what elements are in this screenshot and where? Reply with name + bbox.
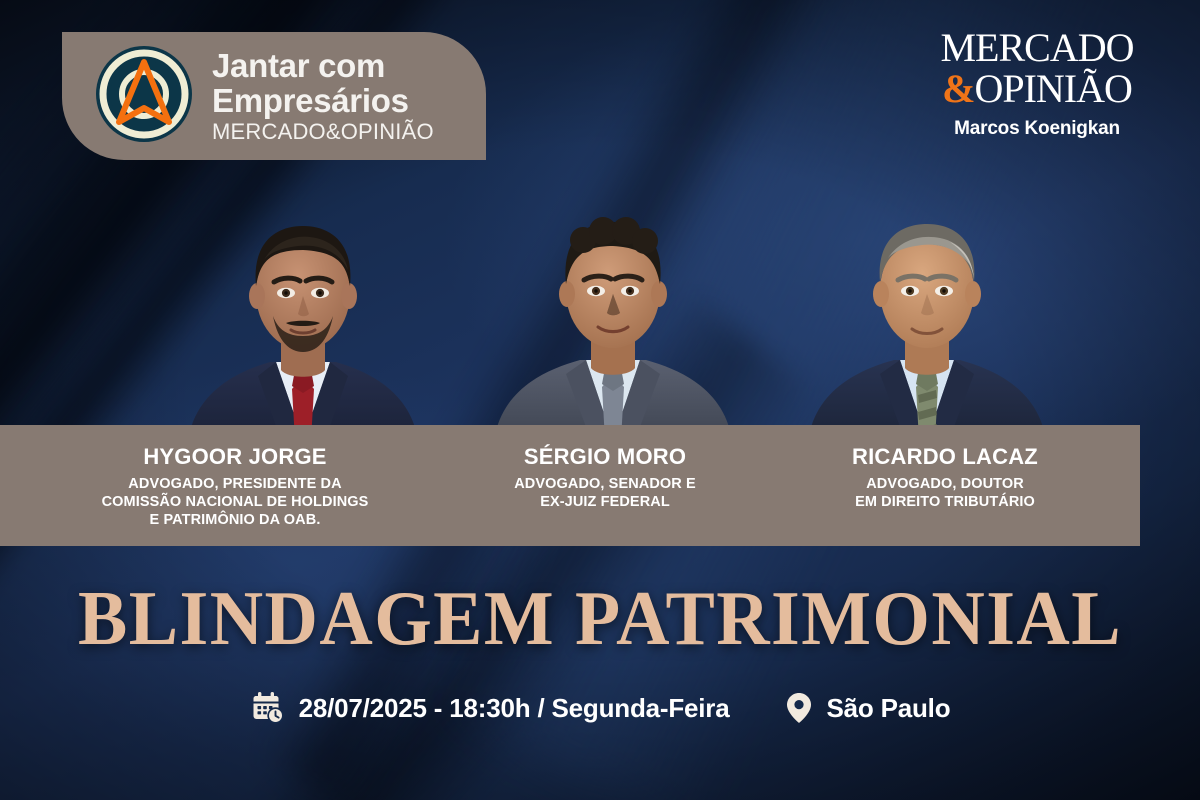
target-compass-logo-icon — [94, 44, 194, 149]
event-date-item: 28/07/2025 - 18:30h / Segunda-Feira — [250, 690, 730, 726]
speaker-role-line: E PATRIMÔNIO DA OAB. — [0, 511, 470, 529]
speaker-role-line: ADVOGADO, SENADOR E — [440, 475, 770, 493]
speaker-role-line: EM DIREITO TRIBUTÁRIO — [770, 493, 1120, 511]
badge-line-2: Empresários — [212, 83, 434, 118]
brand-block: MERCADO &OPINIÃO Marcos Koenigkan — [932, 28, 1142, 140]
brand-opiniao: OPINIÃO — [974, 66, 1131, 111]
speaker-block-1: SÉRGIO MORO ADVOGADO, SENADOR E EX-JUIZ … — [440, 425, 770, 546]
badge-text: Jantar com Empresários MERCADO&OPINIÃO — [212, 48, 434, 145]
brand-host-name: Marcos Koenigkan — [932, 118, 1142, 140]
event-location-item: São Paulo — [785, 691, 950, 725]
speaker-photo-0 — [178, 190, 428, 440]
brand-line-2: &OPINIÃO — [932, 68, 1142, 110]
speaker-block-0: HYGOOR JORGE ADVOGADO, PRESIDENTE DA COM… — [0, 425, 470, 546]
speaker-name: HYGOOR JORGE — [0, 444, 470, 470]
calendar-clock-icon — [250, 690, 286, 726]
speaker-block-2: RICARDO LACAZ ADVOGADO, DOUTOR EM DIREIT… — [770, 425, 1120, 546]
speaker-photo-1 — [488, 190, 738, 440]
speaker-role: ADVOGADO, SENADOR E EX-JUIZ FEDERAL — [440, 475, 770, 511]
event-date-text: 28/07/2025 - 18:30h / Segunda-Feira — [299, 693, 730, 724]
event-location-text: São Paulo — [826, 693, 950, 724]
speaker-name: SÉRGIO MORO — [440, 444, 770, 470]
speaker-role-line: COMISSÃO NACIONAL DE HOLDINGS — [0, 493, 470, 511]
speaker-role: ADVOGADO, DOUTOR EM DIREITO TRIBUTÁRIO — [770, 475, 1120, 511]
event-poster: HYGOOR JORGE ADVOGADO, PRESIDENTE DA COM… — [0, 0, 1200, 800]
location-pin-icon — [785, 691, 813, 725]
speaker-role-line: ADVOGADO, PRESIDENTE DA — [0, 475, 470, 493]
speaker-role-line: ADVOGADO, DOUTOR — [770, 475, 1120, 493]
badge-line-1: Jantar com — [212, 48, 434, 83]
speaker-photo-2 — [800, 190, 1050, 440]
brand-ampersand: & — [942, 66, 974, 111]
event-details: 28/07/2025 - 18:30h / Segunda-Feira São … — [0, 690, 1200, 726]
brand-line-1: MERCADO — [932, 28, 1142, 68]
speaker-role-line: EX-JUIZ FEDERAL — [440, 493, 770, 511]
badge-line-3: MERCADO&OPINIÃO — [212, 119, 434, 145]
speaker-name: RICARDO LACAZ — [770, 444, 1120, 470]
page-title: BLINDAGEM PATRIMONIAL — [24, 578, 1176, 658]
speaker-role: ADVOGADO, PRESIDENTE DA COMISSÃO NACIONA… — [0, 475, 470, 529]
event-logo-badge: Jantar com Empresários MERCADO&OPINIÃO — [62, 32, 486, 160]
